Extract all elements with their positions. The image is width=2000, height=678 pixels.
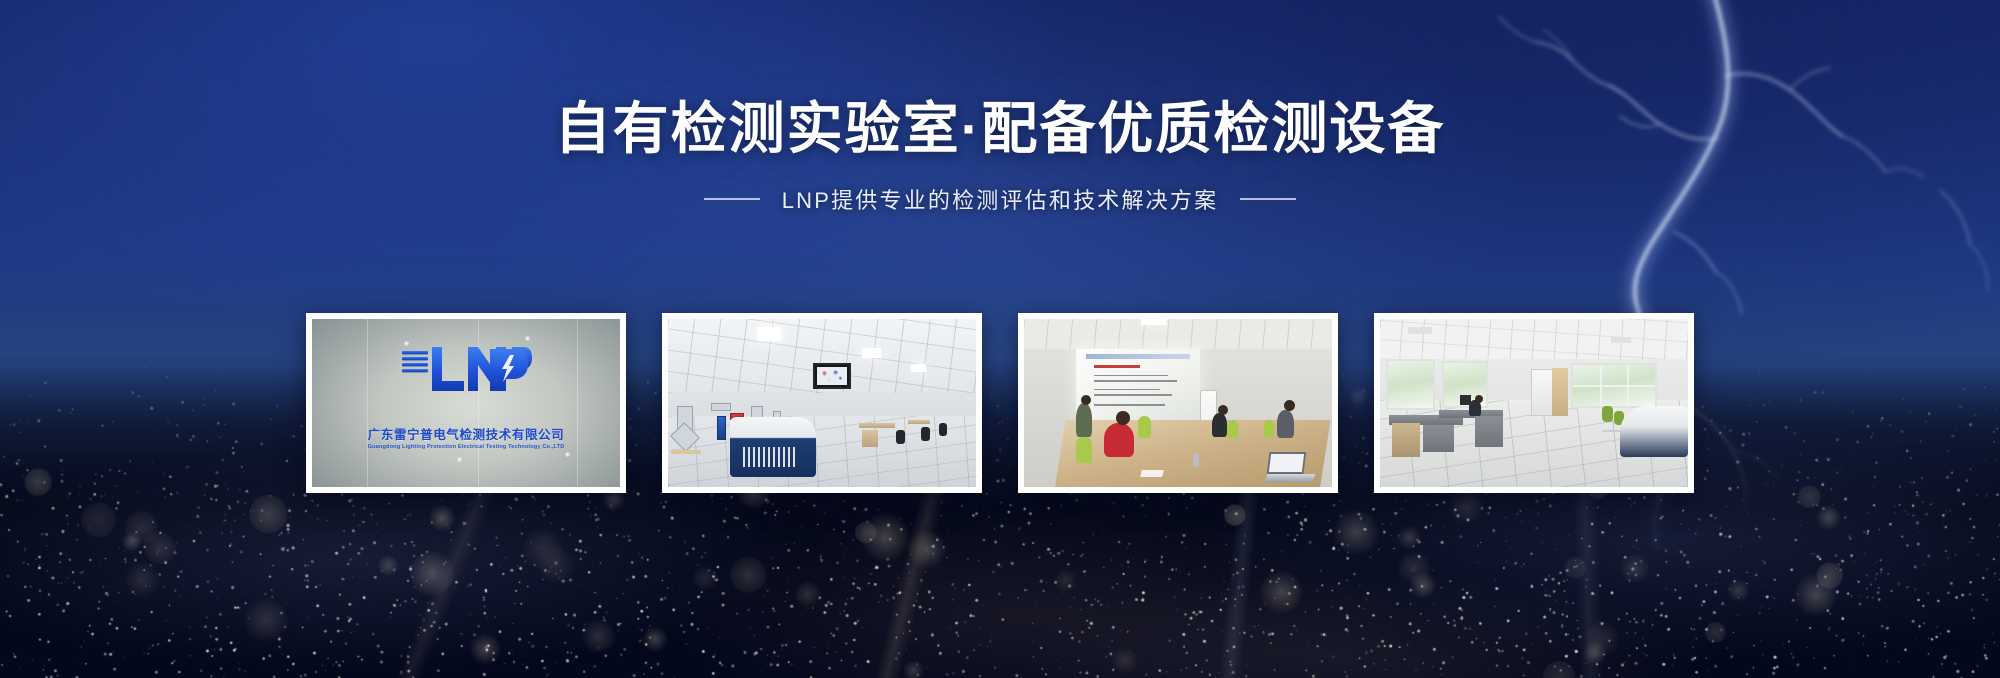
- gallery-item-company-sign[interactable]: 广东雷宁普电气检测技术有限公司 Guangdong Lighting Prote…: [306, 313, 626, 493]
- photo-office: [1380, 319, 1688, 487]
- gallery-item-laboratory[interactable]: [662, 313, 982, 493]
- photo-meeting-room: [1024, 319, 1332, 487]
- banner-text-block: 自有检测实验室·配备优质检测设备 LNP提供专业的检测评估和技术解决方案: [0, 98, 2000, 215]
- rule-left-icon: [704, 198, 760, 200]
- gallery-item-office[interactable]: [1374, 313, 1694, 493]
- photo-gallery: 广东雷宁普电气检测技术有限公司 Guangdong Lighting Prote…: [306, 313, 1694, 493]
- laptop-icon: [1266, 452, 1314, 482]
- logo-company-cn: 广东雷宁普电气检测技术有限公司: [368, 424, 565, 443]
- lnp-logo-icon: [400, 343, 532, 395]
- projection-screen: [1076, 349, 1199, 420]
- logo-company-en: Guangdong Lighting Protection Electrical…: [368, 444, 565, 450]
- subtitle-row: LNP提供专业的检测评估和技术解决方案: [0, 183, 2000, 215]
- photo-company-sign: 广东雷宁普电气检测技术有限公司 Guangdong Lighting Prote…: [312, 319, 620, 487]
- hero-banner: 自有检测实验室·配备优质检测设备 LNP提供专业的检测评估和技术解决方案: [0, 0, 2000, 678]
- rule-right-icon: [1240, 198, 1296, 200]
- gallery-item-meeting-room[interactable]: [1018, 313, 1338, 493]
- page-subtitle: LNP提供专业的检测评估和技术解决方案: [782, 183, 1219, 215]
- page-title: 自有检测实验室·配备优质检测设备: [0, 98, 2000, 161]
- photo-laboratory: [668, 319, 976, 487]
- wall-monitor-icon: [813, 363, 851, 389]
